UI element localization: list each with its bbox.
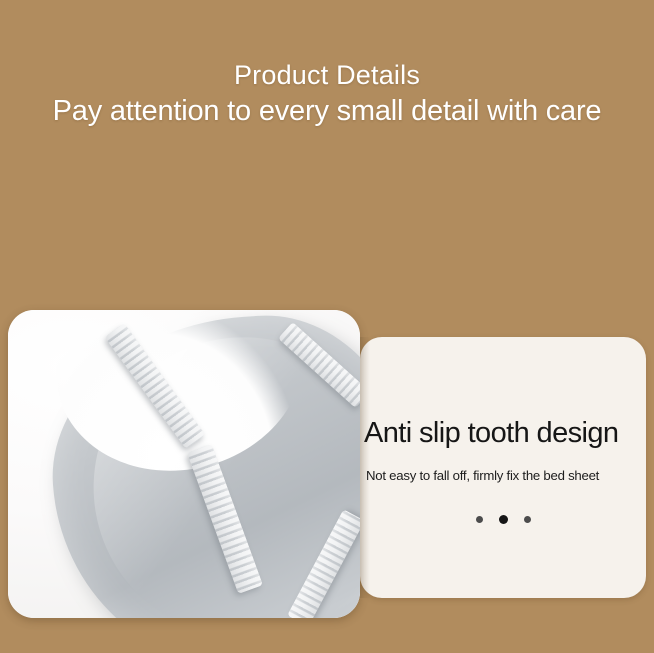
product-photo bbox=[8, 310, 360, 618]
carousel-pagination[interactable] bbox=[360, 515, 646, 524]
feature-heading: Anti slip tooth design bbox=[364, 417, 644, 450]
cards-region: Anti slip tooth design Not easy to fall … bbox=[0, 0, 654, 653]
product-image-card[interactable] bbox=[8, 310, 360, 618]
pagination-dot-2-active[interactable] bbox=[499, 515, 508, 524]
pagination-dot-1[interactable] bbox=[476, 516, 483, 523]
info-card[interactable]: Anti slip tooth design Not easy to fall … bbox=[360, 337, 646, 598]
feature-description: Not easy to fall off, firmly fix the bed… bbox=[366, 468, 640, 483]
pagination-dot-3[interactable] bbox=[524, 516, 531, 523]
info-card-content: Anti slip tooth design Not easy to fall … bbox=[360, 337, 646, 598]
